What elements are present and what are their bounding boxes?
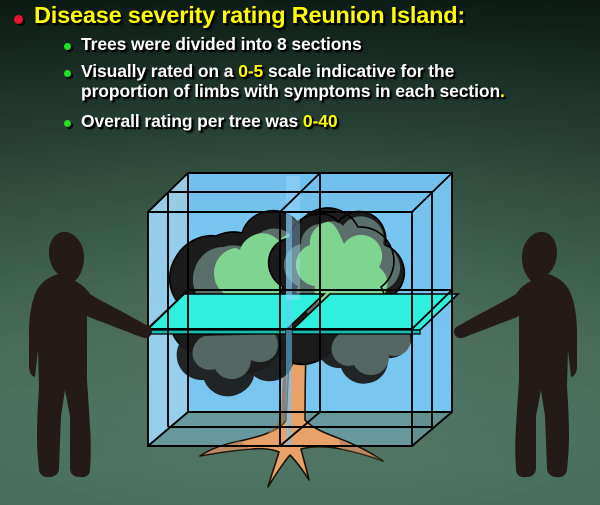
bullet-text-highlight: 0-5	[238, 61, 263, 81]
bullet-dot-icon	[14, 15, 23, 24]
bullet-dot-icon	[64, 43, 71, 50]
bullet-sections-text: Trees were divided into 8 sections	[81, 35, 362, 55]
bullet-dot-icon	[64, 120, 71, 127]
bullet-overall-text: Overall rating per tree was 0-40	[81, 112, 338, 132]
bullet-scale-text: Visually rated on a 0-5 scale indicative…	[81, 62, 543, 101]
slide-title-row: Disease severity rating Reunion Island:	[0, 3, 600, 28]
bullet-text-highlight: .	[500, 81, 505, 101]
bullet-text-highlight: 0-40	[303, 111, 338, 131]
silhouette-person-right	[438, 220, 588, 482]
silhouette-person-left	[18, 220, 168, 482]
bullet-dot-icon	[64, 70, 71, 77]
bullet-sections: Trees were divided into 8 sections	[0, 35, 600, 55]
bullet-overall: Overall rating per tree was 0-40	[0, 112, 600, 132]
slide-text-block: Disease severity rating Reunion Island: …	[0, 0, 600, 132]
bullet-text-part: Trees were divided into 8 sections	[81, 34, 362, 54]
page-title: Disease severity rating Reunion Island:	[34, 3, 465, 28]
slide-canvas: Disease severity rating Reunion Island: …	[0, 0, 600, 505]
bullet-text-part: Visually rated on a	[81, 61, 238, 81]
bullet-scale: Visually rated on a 0-5 scale indicative…	[0, 62, 600, 101]
bullet-text-part: Overall rating per tree was	[81, 111, 303, 131]
